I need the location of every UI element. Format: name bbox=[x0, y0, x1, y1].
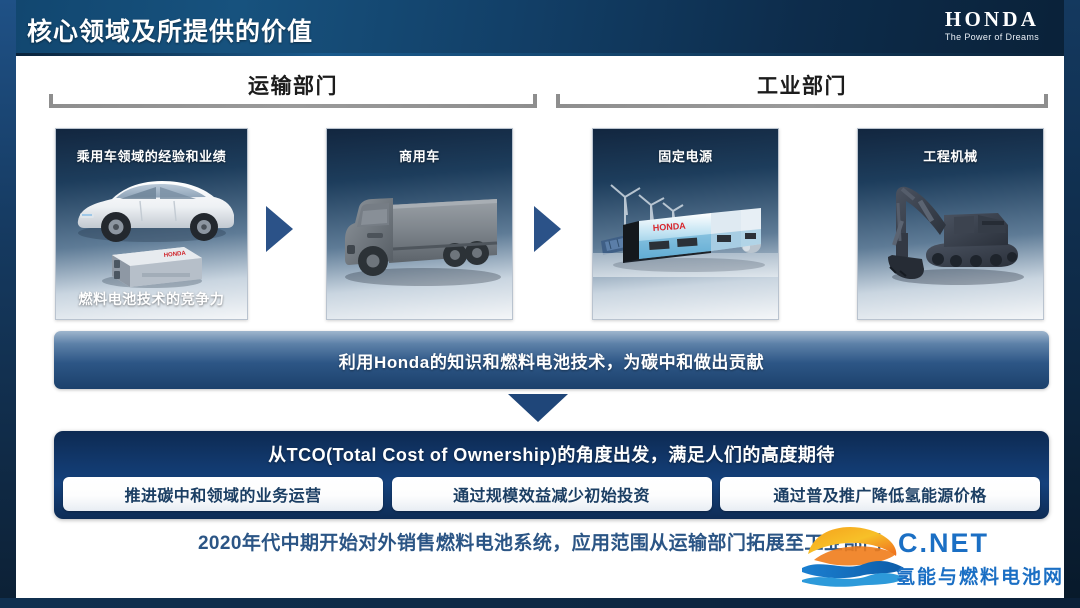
card-stationary-power[interactable]: HONDA 固定电源 bbox=[592, 128, 779, 320]
page-title: 核心领域及所提供的价值 bbox=[27, 12, 313, 48]
banner-text: 利用Honda的知识和燃料电池技术，为碳中和做出贡献 bbox=[339, 348, 764, 373]
tco-pill-2[interactable]: 通过规模效益减少初始投资 bbox=[392, 477, 712, 511]
slide-root: 核心领域及所提供的价值 HONDA The Power of Dreams 运输… bbox=[0, 0, 1080, 608]
frame-bottom-edge bbox=[0, 598, 1080, 608]
watermark: C.NET 氢能与燃料电池网 bbox=[800, 520, 1068, 598]
tco-pill-1[interactable]: 推进碳中和领域的业务运营 bbox=[63, 477, 383, 511]
tco-pill-label-1: 推进碳中和领域的业务运营 bbox=[125, 482, 322, 506]
sector-rule-industry bbox=[556, 104, 1048, 108]
tco-title: 从TCO(Total Cost of Ownership)的角度出发，满足人们的… bbox=[54, 441, 1049, 467]
card-construction-machinery[interactable]: 工程机械 bbox=[857, 128, 1044, 320]
sector-label-industry: 工业部门 bbox=[556, 72, 1048, 102]
honda-tagline: The Power of Dreams bbox=[928, 33, 1056, 42]
sector-header-industry: 工业部门 bbox=[556, 72, 1048, 116]
tco-pill-row: 推进碳中和领域的业务运营 通过规模效益减少初始投资 通过普及推广降低氢能源价格 bbox=[54, 477, 1049, 511]
frame-right-edge bbox=[1064, 0, 1080, 608]
arrow-right-icon-1 bbox=[266, 206, 293, 252]
arrow-right-icon-2 bbox=[534, 206, 561, 252]
slide-body: 运输部门 工业部门 bbox=[16, 56, 1064, 598]
watermark-text: C.NET bbox=[898, 528, 989, 559]
card-caption-top-4: 工程机械 bbox=[858, 146, 1043, 165]
watermark-subtext: 氢能与燃料电池网 bbox=[896, 562, 1064, 589]
tco-pill-3[interactable]: 通过普及推广降低氢能源价格 bbox=[720, 477, 1040, 511]
honda-logo: HONDA The Power of Dreams bbox=[928, 9, 1056, 42]
card-caption-top-1: 乘用车领域的经验和业绩 bbox=[56, 146, 247, 165]
card-passenger-car[interactable]: HONDA 乘用车领域的经验和业绩 燃料电池技术的竞争力 bbox=[55, 128, 248, 320]
card-commercial-vehicle[interactable]: 商用车 bbox=[326, 128, 513, 320]
sector-rule-transport bbox=[49, 104, 537, 108]
tco-pill-label-2: 通过规模效益减少初始投资 bbox=[453, 482, 650, 506]
card-caption-top-3: 固定电源 bbox=[593, 146, 778, 165]
card-caption-bottom-1: 燃料电池技术的竞争力 bbox=[56, 289, 247, 309]
contribution-banner: 利用Honda的知识和燃料电池技术，为碳中和做出贡献 bbox=[54, 331, 1049, 389]
slide-header: 核心领域及所提供的价值 HONDA The Power of Dreams bbox=[0, 0, 1080, 56]
sector-header-transport: 运输部门 bbox=[49, 72, 537, 116]
sector-label-transport: 运输部门 bbox=[49, 72, 537, 102]
card-caption-top-2: 商用车 bbox=[327, 146, 512, 165]
honda-wordmark: HONDA bbox=[928, 9, 1056, 30]
arrow-down-icon bbox=[508, 394, 568, 422]
tco-panel: 从TCO(Total Cost of Ownership)的角度出发，满足人们的… bbox=[54, 431, 1049, 519]
frame-left-edge bbox=[0, 0, 16, 608]
tco-pill-label-3: 通过普及推广降低氢能源价格 bbox=[773, 482, 986, 506]
